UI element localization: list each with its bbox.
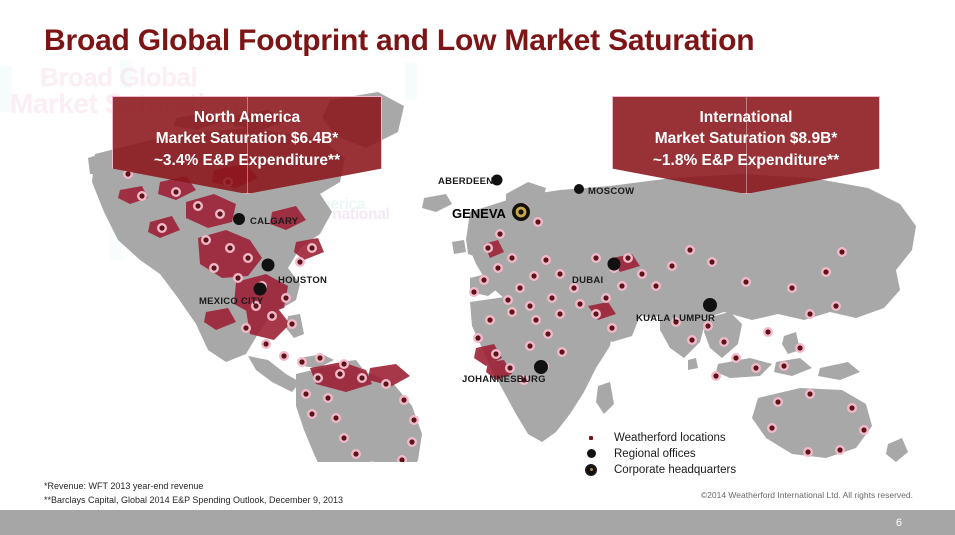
- regional-office-dot-icon: [580, 449, 602, 458]
- legend-label-headquarters: Corporate headquarters: [614, 464, 736, 476]
- legend-item-headquarters: Corporate headquarters: [580, 462, 810, 477]
- city-label-geneva: GENEVA: [452, 206, 506, 221]
- city-label-mexico-city: MEXICO CITY: [199, 296, 264, 307]
- footnotes: *Revenue: WFT 2013 year-end revenue **Ba…: [44, 479, 343, 507]
- copyright-notice: ©2014 Weatherford International Ltd. All…: [701, 490, 913, 500]
- office-dot-kuala-lumpur: [703, 298, 717, 312]
- corporate-headquarters-ring-icon: [580, 464, 602, 476]
- city-label-moscow: MOSCOW: [588, 186, 634, 197]
- city-label-dubai: DUBAI: [572, 275, 603, 286]
- slide-canvas: Broad Global Market Saturation North Ame…: [0, 0, 955, 535]
- office-dot-mexico-city: [254, 283, 267, 296]
- legend-label-regional-offices: Regional offices: [614, 448, 696, 460]
- office-dot-calgary: [233, 213, 245, 225]
- map-legend: Weatherford locations Regional offices C…: [580, 430, 810, 478]
- legend-label-locations: Weatherford locations: [614, 432, 726, 444]
- city-label-houston: HOUSTON: [278, 275, 327, 286]
- city-label-johannesburg: JOHANNESBURG: [462, 374, 546, 385]
- page-number: 6: [896, 517, 902, 529]
- city-label-aberdeen: ABERDEEN: [438, 176, 493, 187]
- office-dot-dubai: [608, 258, 621, 271]
- office-dot-moscow: [574, 184, 584, 194]
- office-dot-johannesburg: [534, 360, 548, 374]
- city-label-kuala-lumpur: KUALA LUMPUR: [636, 313, 715, 324]
- callout-center-rule: [247, 97, 248, 193]
- footer-bar: 6: [0, 510, 955, 535]
- callout-center-rule: [746, 97, 747, 193]
- office-dot-houston: [262, 259, 275, 272]
- legend-item-regional-offices: Regional offices: [580, 446, 810, 461]
- footnote-barclays: **Barclays Capital, Global 2014 E&P Spen…: [44, 493, 343, 507]
- map-corporate-hq-marker-geneva: [512, 203, 530, 221]
- city-label-calgary: CALGARY: [250, 216, 298, 227]
- footnote-revenue: *Revenue: WFT 2013 year-end revenue: [44, 479, 343, 493]
- legend-item-locations: Weatherford locations: [580, 430, 810, 445]
- page-title: Broad Global Footprint and Low Market Sa…: [44, 24, 754, 58]
- location-dot-icon: [580, 436, 602, 440]
